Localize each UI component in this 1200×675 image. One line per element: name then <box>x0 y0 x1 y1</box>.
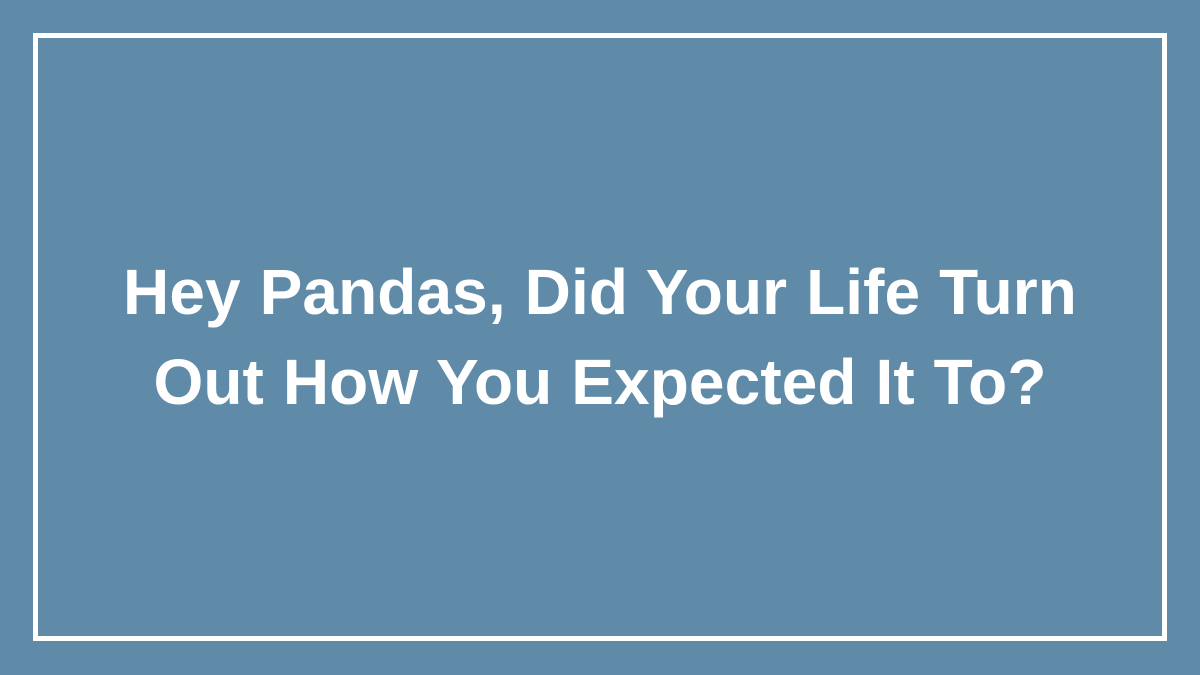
page-title-line-1: Hey Pandas, Did Your Life Turn <box>94 247 1106 337</box>
headline-block: Hey Pandas, Did Your Life Turn Out How Y… <box>38 38 1162 636</box>
decorative-border-frame: Hey Pandas, Did Your Life Turn Out How Y… <box>33 33 1167 641</box>
page-title-line-2: Out How You Expected It To? <box>94 337 1106 427</box>
page-title: Hey Pandas, Did Your Life Turn Out How Y… <box>94 247 1106 427</box>
poster-canvas: Hey Pandas, Did Your Life Turn Out How Y… <box>0 0 1200 675</box>
